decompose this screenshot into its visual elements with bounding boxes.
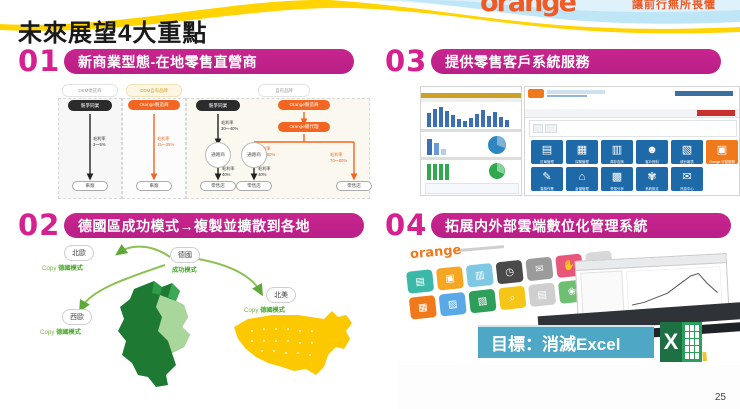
app-tile[interactable]: ⌕: [498, 286, 526, 311]
section-02-heading: 德國區成功模式→複製並擴散到各地: [64, 213, 364, 238]
nordic-copy-text: 德國模式: [58, 265, 83, 272]
flow-node-distributor-1: 通路商: [205, 142, 231, 168]
doc-icon: ▤: [528, 282, 556, 307]
section-03-screenshots: ▤ 訂單管理 ▦ 採購管理 ▥ 庫存查詢 ☻ 客戶資料 ▧ 統計報表: [420, 86, 738, 196]
image-icon: ▨: [439, 292, 467, 317]
flow-node-retail-3: 零售店: [336, 181, 372, 191]
flow-node-retail-2: 零售店: [236, 181, 272, 191]
erp-tile-label: 採購管理: [566, 158, 598, 164]
app-tile[interactable]: ▨: [439, 292, 467, 317]
excel-icon-grid: [682, 322, 702, 362]
document-icon: ▤: [533, 142, 561, 157]
chart-icon: ▧: [673, 142, 701, 157]
label-germany-success: 成功模式: [172, 265, 197, 274]
flow-node-orange-maker: Orange製造商: [128, 100, 180, 110]
erp-tile-label: 訊息中心: [671, 185, 703, 191]
clock-icon: ◷: [496, 260, 524, 285]
flow-margin-label-1: 毛利率: [93, 136, 106, 141]
app-tile[interactable]: ▥: [466, 263, 494, 288]
app-tile[interactable]: ▣: [436, 266, 464, 291]
bar-chart-icon: ▩: [603, 169, 631, 184]
section-03-header: 03 提供零售客戶系統服務: [385, 48, 721, 75]
erp-tile-label: 倉儲管理: [566, 185, 598, 191]
erp-tile-label: 庫存查詢: [601, 158, 633, 164]
flow-node-orange-agent: Orange總代理: [278, 122, 330, 132]
pen-icon: ✎: [533, 169, 561, 184]
nordic-copy-prefix: Copy: [42, 265, 56, 272]
flow-margin-label-3: 毛利率: [221, 120, 234, 125]
erp-tile[interactable]: ☻ 客戶資料: [636, 140, 668, 164]
section-01: 01 新商業型態-在地零售直營商: [18, 48, 354, 75]
label-western-europe-copy: Copy 德國模式: [40, 327, 81, 336]
section-04-heading: 拓展内外部雲端數位化管理系統: [431, 213, 731, 238]
pill-north-america: 北美: [266, 287, 296, 303]
flow-node-competitor-1: 競爭同業: [68, 100, 112, 111]
app-tile[interactable]: ▧: [468, 289, 496, 314]
margin-flow-diagram: OEM委託商 ODM自有品牌 自有品牌: [58, 84, 370, 199]
note-icon: ▥: [466, 263, 494, 288]
mail-icon: ✉: [673, 169, 701, 184]
portal-logo: orange: [409, 243, 462, 262]
dashboard-bar-chart: [427, 105, 515, 127]
clipboard-icon: ▦: [568, 142, 596, 157]
flow-margin-value-4: 40%: [222, 172, 230, 177]
brand-slogan: 讓前行無所畏懼: [632, 0, 740, 12]
section-01-number: 01: [18, 47, 64, 76]
search-icon: ⌕: [498, 286, 526, 311]
weu-copy-prefix: Copy: [40, 329, 54, 336]
erp-tile-label: 營運分析: [601, 185, 633, 191]
app-tile[interactable]: ◷: [496, 260, 524, 285]
section-04-header: 04 拓展内外部雲端數位化管理系統: [385, 212, 731, 239]
chart-icon: ▧: [468, 289, 496, 314]
mobile-icon: ▣: [708, 142, 736, 157]
erp-tile[interactable]: ⌂ 倉儲管理: [566, 167, 598, 191]
app-tile[interactable]: ▤: [528, 282, 556, 307]
pill-germany: 德國: [170, 247, 200, 263]
erp-tile-label: Orange 行動服務: [706, 158, 738, 164]
app-tile[interactable]: ▤: [406, 269, 434, 294]
flow-node-competitor-2: 競爭同業: [196, 100, 240, 111]
book-icon: ▦: [409, 295, 437, 320]
usa-map: [228, 305, 360, 387]
label-nordic-copy: Copy 德國模式: [42, 263, 83, 272]
market-spread-diagram: 北歐 Copy 德國模式 德國 成功模式 西歐 Copy 德國模式 北美 Cop…: [20, 243, 372, 393]
section-01-header: 01 新商業型態-在地零售直營商: [18, 48, 354, 75]
app-tile[interactable]: ✉: [525, 257, 553, 282]
erp-portal-screenshot[interactable]: ▤ 訂單管理 ▦ 採購管理 ▥ 庫存查詢 ☻ 客戶資料 ▧ 統計報表: [524, 86, 740, 196]
erp-tile-label: 訂單管理: [531, 158, 563, 164]
erp-tile-highlight[interactable]: ▣ Orange 行動服務: [706, 140, 738, 164]
slide-canvas: orange 讓前行無所畏懼 未來展望4大重點 01 新商業型態-在地零售直營商…: [0, 0, 740, 409]
erp-tile[interactable]: ▩ 營運分析: [601, 167, 633, 191]
flow-margin-value-2: 15～25%: [157, 142, 174, 147]
pill-western-europe: 西歐: [62, 309, 92, 325]
calendar-icon: ▤: [406, 269, 434, 294]
flow-margin-label-4: 毛利率: [222, 166, 235, 171]
label-north-america-copy: Copy 德國模式: [244, 305, 285, 314]
flow-margin-label-6: 毛利率: [258, 166, 271, 171]
section-03: 03 提供零售客戶系統服務: [385, 48, 721, 75]
flow-margin-value-6: 40%: [258, 172, 266, 177]
flow-margin-value-3: 30～40%: [221, 126, 238, 131]
app-tile[interactable]: ▦: [409, 295, 437, 320]
page-number: 25: [715, 392, 726, 403]
section-02-header: 02 德國區成功模式→複製並擴散到各地: [18, 212, 364, 239]
warehouse-icon: ⌂: [568, 169, 596, 184]
pill-nordic: 北歐: [64, 245, 94, 261]
portal-logo-subtext: [460, 245, 504, 252]
excel-callout: 目標：消滅Excel: [478, 325, 654, 358]
excel-icon-letter: X: [660, 322, 682, 362]
section-02-number: 02: [18, 211, 64, 240]
flow-node-retail-1: 零售店: [200, 181, 236, 191]
erp-tile[interactable]: ✾ 系統設定: [636, 167, 668, 191]
flow-margin-value-1: 3～5%: [93, 142, 106, 147]
flow-margin-value-7: 70～80%: [330, 158, 347, 163]
section-02: 02 德國區成功模式→複製並擴散到各地: [18, 212, 364, 239]
erp-tile[interactable]: ▦ 採購管理: [566, 140, 598, 164]
flow-node-carmaker-2: 車廠: [136, 181, 172, 191]
na-copy-text: 德國模式: [260, 307, 285, 314]
section-03-number: 03: [385, 47, 431, 76]
flow-margin-label-2: 毛利率: [157, 136, 170, 141]
page-title: 未來展望4大重點: [18, 13, 207, 48]
mail-icon: ✉: [525, 257, 553, 282]
brand-logo: orange: [480, 0, 590, 20]
flow-margin-label-7: 毛利率: [330, 152, 343, 157]
na-copy-prefix: Copy: [244, 307, 258, 314]
gear-icon: ✾: [638, 169, 666, 184]
erp-tile-label: 客戶資料: [636, 158, 668, 164]
germany-map: [110, 279, 206, 391]
erp-tile[interactable]: ▥ 庫存查詢: [601, 140, 633, 164]
erp-tile[interactable]: ✉ 訊息中心: [671, 167, 703, 191]
user-icon: ☻: [638, 142, 666, 157]
erp-tile[interactable]: ✎ 簽核作業: [531, 167, 563, 191]
weu-copy-text: 德國模式: [56, 329, 81, 336]
section-03-heading: 提供零售客戶系統服務: [431, 49, 721, 74]
erp-tile-grid: ▤ 訂單管理 ▦ 採購管理 ▥ 庫存查詢 ☻ 客戶資料 ▧ 統計報表: [531, 140, 738, 191]
flow-node-orange-maker-2: Orange製造商: [278, 100, 330, 110]
section-04-number: 04: [385, 211, 431, 240]
dashboard-chart-row-3: [427, 162, 515, 180]
bi-dashboard-screenshot[interactable]: [420, 86, 522, 196]
erp-tile-label: 簽核作業: [531, 185, 563, 191]
section-04: 04 拓展内外部雲端數位化管理系統: [385, 212, 731, 239]
section-01-heading: 新商業型態-在地零售直營商: [64, 49, 354, 74]
flow-node-carmaker-1: 車廠: [72, 181, 108, 191]
erp-tile[interactable]: ▧ 統計報表: [671, 140, 703, 164]
excel-callout-text: 目標：消滅Excel: [491, 330, 620, 355]
erp-tile[interactable]: ▤ 訂單管理: [531, 140, 563, 164]
erp-tile-label: 統計報表: [671, 158, 703, 164]
folder-icon: ▣: [436, 266, 464, 291]
brand-logo-text: orange: [480, 0, 590, 16]
spreadsheet-backdrop: [398, 361, 740, 409]
erp-tile-label: 系統設定: [636, 185, 668, 191]
dashboard-chart-row-2: [427, 135, 515, 155]
flow-node-distributor-2: 通路商: [241, 142, 267, 168]
excel-icon: X: [660, 322, 702, 362]
barcode-icon: ▥: [603, 142, 631, 157]
